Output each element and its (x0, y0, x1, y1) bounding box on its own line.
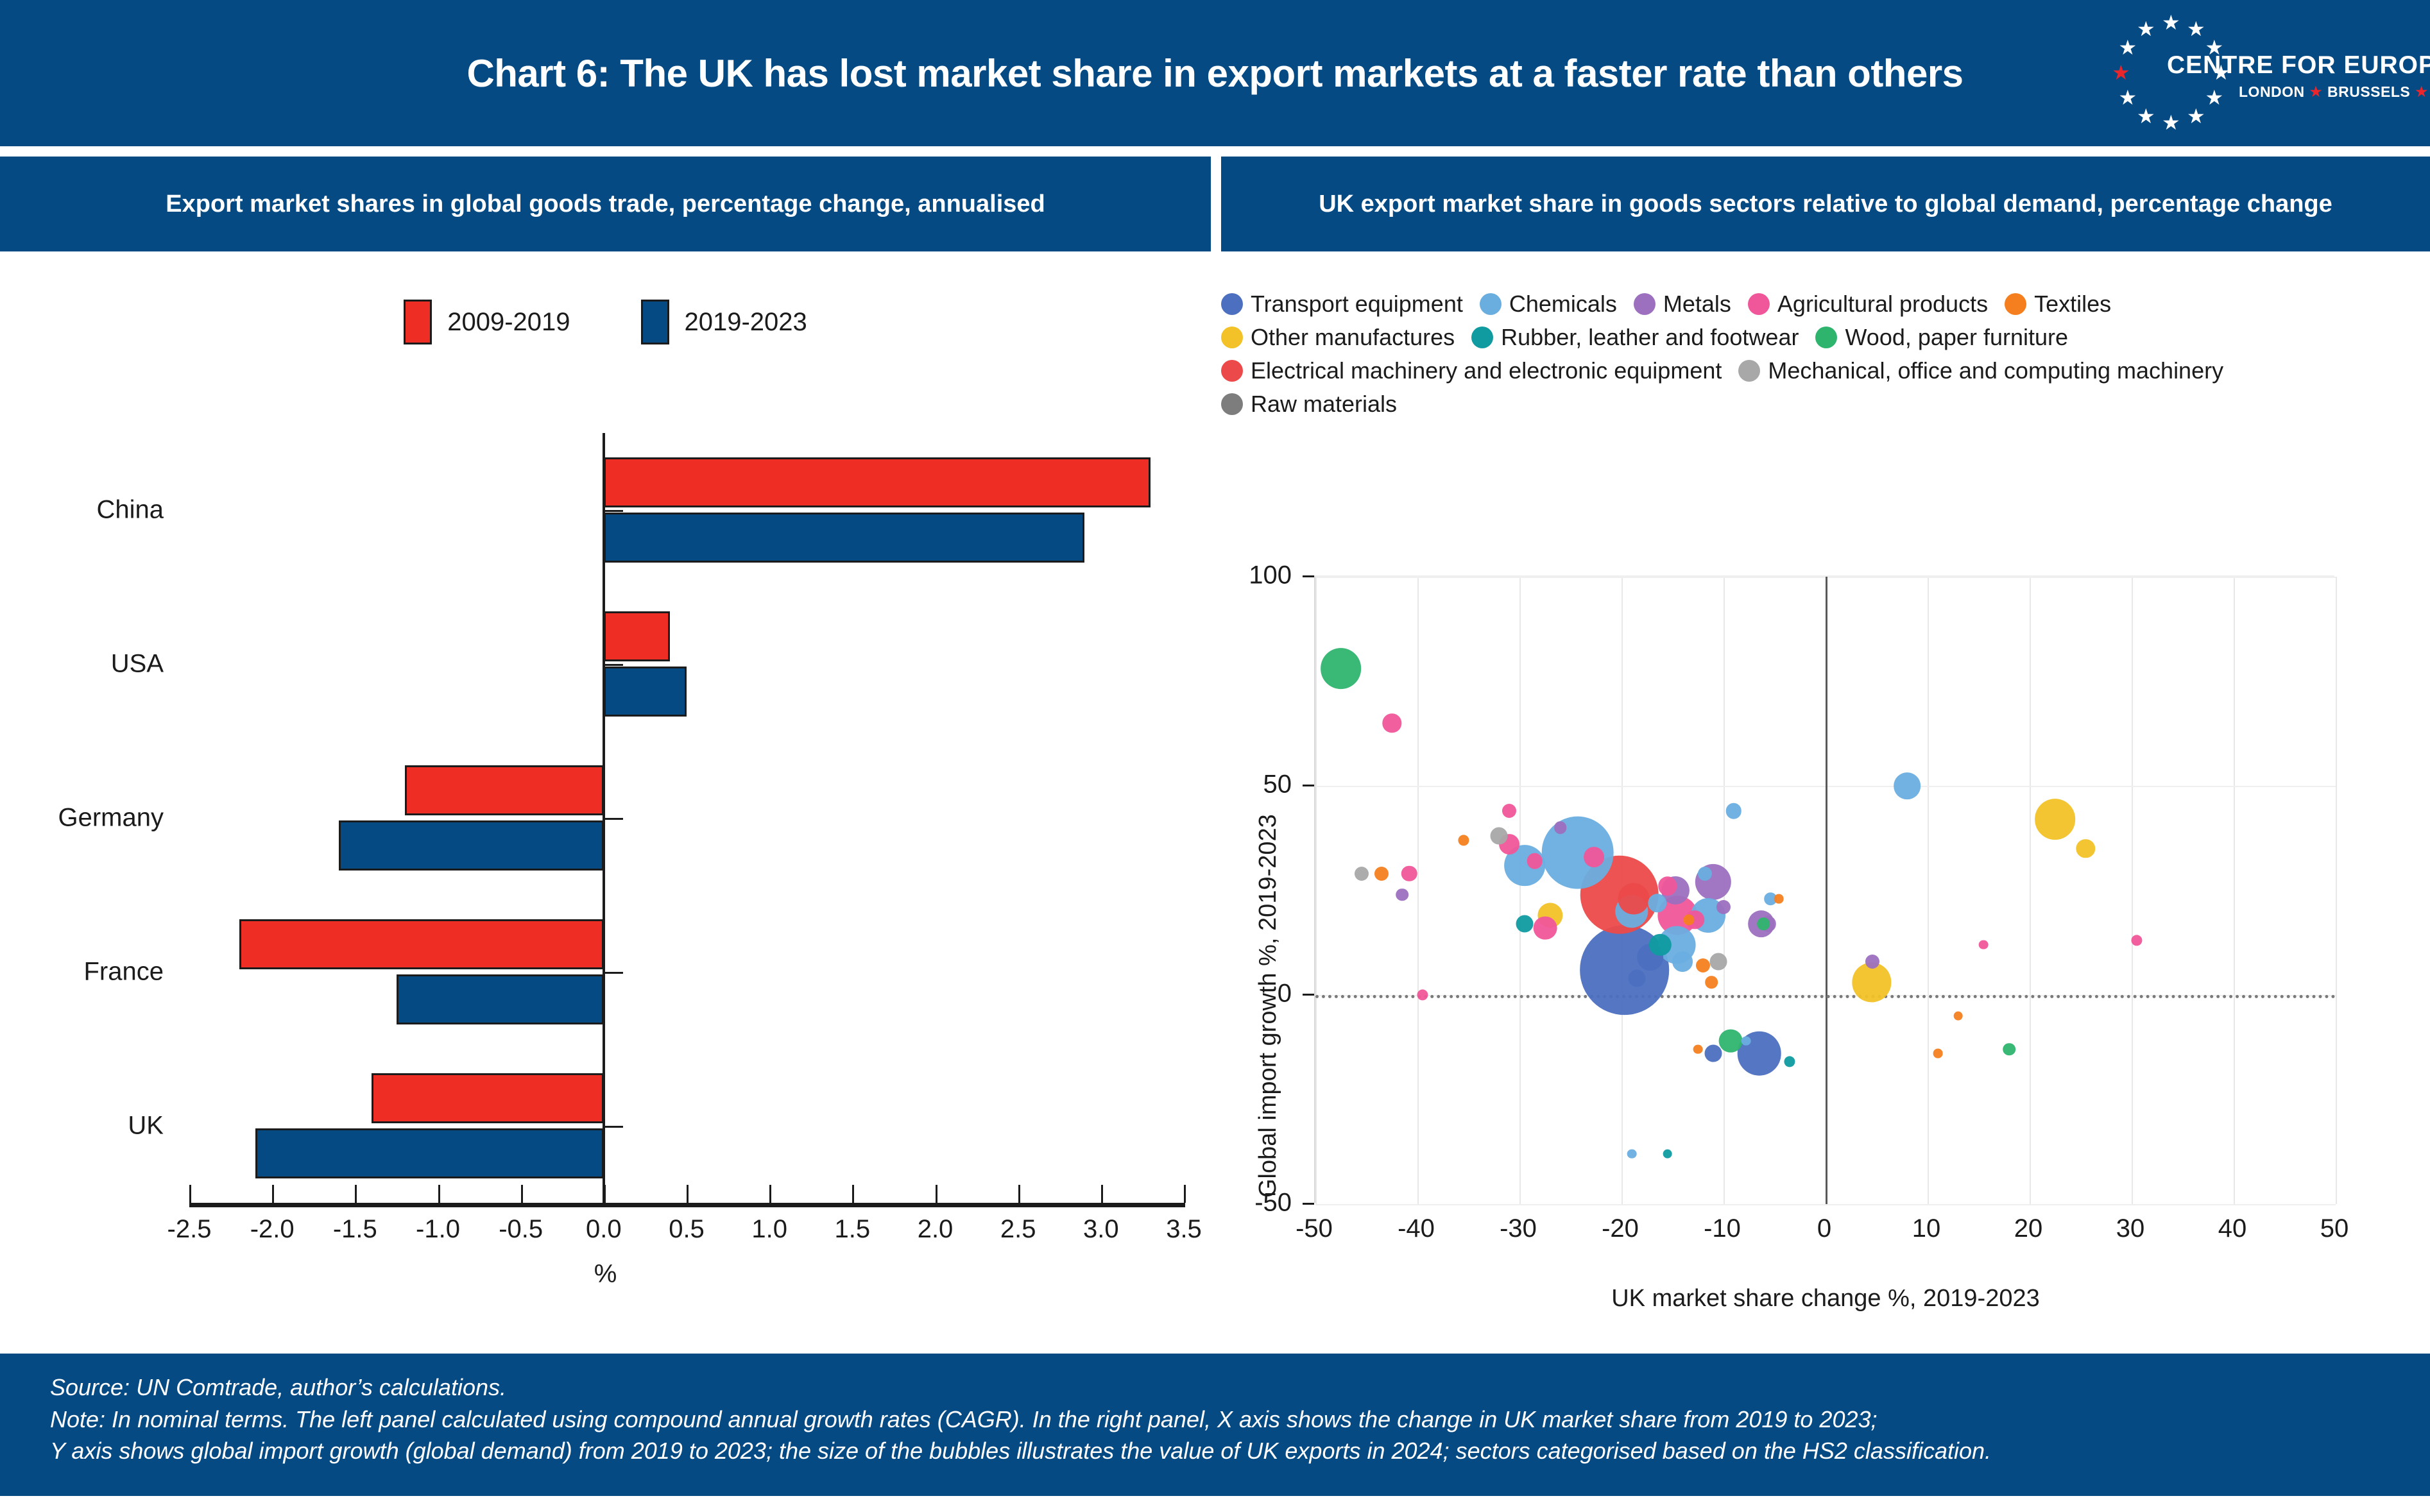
legend-dot-icon (1634, 293, 1656, 315)
legend-label: Metals (1663, 291, 1731, 317)
cer-logo: ★★★★★★★★★★★★ CENTRE FOR EUROPEAN REFORM … (2103, 14, 2404, 131)
legend-label: Other manufactures (1251, 325, 1455, 350)
bubble-point (1705, 976, 1718, 989)
bubble-point (1716, 900, 1731, 914)
bubble-x-tick-label: 40 (2218, 1214, 2247, 1243)
footer-strip (0, 1496, 2430, 1512)
bar-chart-panel: 2009-20192019-2023 -2.5-2.0-1.5-1.0-0.50… (0, 251, 1211, 1342)
bar-x-tick-label: 2.0 (918, 1215, 954, 1244)
bubble-y-tick-label: 100 (1221, 561, 1292, 590)
bubble-point (2131, 935, 2142, 946)
bar-usa-2009-2019 (604, 611, 670, 661)
bubble-gridline-v (2234, 577, 2235, 1204)
bubble-legend-item-4[interactable]: Textiles (2005, 291, 2111, 317)
bubble-point (1979, 940, 1989, 949)
bubble-legend-row-1: Other manufacturesRubber, leather and fo… (1221, 325, 2430, 350)
bubble-legend-row-2: Electrical machinery and electronic equi… (1221, 358, 2430, 384)
legend-swatch (641, 300, 669, 344)
bubble-point (2035, 799, 2076, 840)
bubble-point (1741, 1036, 1751, 1046)
bubble-point (2003, 1043, 2015, 1056)
legend-dot-icon (2005, 293, 2026, 315)
footer-note-line-2: Y axis shows global import growth (globa… (50, 1435, 2380, 1467)
legend-label: Transport equipment (1251, 291, 1463, 317)
bubble-point (2076, 839, 2095, 858)
bar-france-2009-2019 (239, 919, 604, 969)
bubble-point (1502, 804, 1516, 818)
bubble-point (1628, 969, 1645, 987)
star-icon: ★ (2187, 106, 2205, 126)
bubble-legend-item-1[interactable]: Chemicals (1480, 291, 1617, 317)
bar-x-axis-line (189, 1203, 1185, 1207)
bar-uk-2009-2019 (372, 1073, 604, 1123)
bar-chart-legend: 2009-20192019-2023 (0, 300, 1211, 344)
logo-city-london: LONDON (2239, 83, 2305, 101)
bubble-point (1705, 1045, 1722, 1062)
bar-x-tick (604, 1185, 606, 1203)
bubble-point (1852, 963, 1891, 1002)
bubble-y-zero-line (1315, 995, 2336, 998)
bar-china-2009-2019 (604, 457, 1151, 507)
bar-x-tick (521, 1185, 523, 1203)
star-icon: ★ (2112, 62, 2130, 83)
star-icon: ★ (2137, 19, 2155, 39)
bar-category-label-uk: UK (0, 1112, 164, 1141)
star-icon: ★ (2118, 37, 2137, 58)
header-bar: Chart 6: The UK has lost market share in… (0, 0, 2430, 146)
bubble-point (1719, 1029, 1743, 1053)
bubble-point (1401, 866, 1417, 882)
bubble-x-zero-line (1826, 577, 1827, 1204)
legend-swatch (404, 300, 432, 344)
bar-x-tick-label: -1.5 (333, 1215, 377, 1244)
bubble-point (1533, 916, 1557, 940)
bar-x-tick (272, 1185, 274, 1203)
bubble-gridline-v (2336, 577, 2337, 1204)
bar-x-tick (189, 1185, 191, 1203)
bubble-gridline-v (2132, 577, 2133, 1204)
bar-category-tick (604, 664, 623, 666)
bubble-y-tick (1303, 575, 1314, 577)
bubble-point (1757, 917, 1770, 930)
bubble-point (1374, 867, 1389, 881)
legend-dot-icon (1471, 327, 1493, 348)
bar-germany-2009-2019 (405, 765, 604, 815)
logo-city-brussels: BRUSSELS (2327, 83, 2410, 101)
bar-legend-item-0[interactable]: 2009-2019 (404, 300, 570, 344)
bubble-x-axis-title: UK market share change %, 2019-2023 (1221, 1285, 2430, 1312)
star-icon: ★ (2137, 106, 2155, 126)
bar-france-2019-2023 (397, 974, 604, 1024)
bubble-point (1355, 867, 1369, 881)
star-icon: ★ (2205, 87, 2224, 108)
legend-label: Chemicals (1509, 291, 1617, 317)
star-icon: ★ (2118, 87, 2137, 108)
bar-x-tick (936, 1185, 937, 1203)
bar-x-tick (687, 1185, 689, 1203)
legend-dot-icon (1748, 293, 1770, 315)
bubble-x-tick-label: -40 (1398, 1214, 1435, 1243)
legend-dot-icon (1815, 327, 1837, 348)
legend-label: 2019-2023 (685, 308, 807, 337)
bubble-point (1321, 649, 1362, 690)
bar-chart-plot-area (189, 433, 1184, 1203)
legend-dot-icon (1221, 393, 1243, 415)
bar-uk-2019-2023 (255, 1128, 604, 1178)
bubble-point (1554, 821, 1567, 834)
bubble-point (1953, 1011, 1963, 1021)
bubble-y-tick-label: 50 (1221, 770, 1292, 799)
legend-label: Agricultural products (1777, 291, 1988, 317)
bar-germany-2019-2023 (339, 820, 604, 871)
bubble-point (1774, 894, 1784, 904)
bar-category-label-france: France (0, 958, 164, 987)
legend-dot-icon (1221, 360, 1243, 382)
bubble-x-tick-label: -50 (1296, 1214, 1333, 1243)
footer-note-line-1: Note: In nominal terms. The left panel c… (50, 1404, 2380, 1436)
bubble-point (1417, 989, 1428, 1000)
bubble-point (1710, 953, 1727, 970)
bubble-x-tick-label: 50 (2320, 1214, 2349, 1243)
star-icon: ★ (2415, 84, 2427, 100)
legend-label: Electrical machinery and electronic equi… (1251, 358, 1722, 384)
legend-label: 2009-2019 (447, 308, 570, 337)
bubble-y-tick (1303, 994, 1314, 996)
bar-x-tick-label: 3.0 (1083, 1215, 1119, 1244)
legend-label: Wood, paper furniture (1845, 325, 2068, 350)
bubble-point (1627, 1149, 1637, 1159)
bar-category-tick (604, 972, 623, 974)
bubble-x-tick-label: -10 (1704, 1214, 1741, 1243)
bar-category-label-china: China (0, 496, 164, 525)
bar-category-tick (604, 510, 623, 512)
bubble-point (1516, 915, 1533, 933)
bubble-point (1584, 847, 1604, 867)
bar-china-2019-2023 (604, 513, 1084, 563)
bar-x-axis-title: % (0, 1260, 1211, 1289)
bar-x-tick-label: 1.0 (751, 1215, 787, 1244)
bubble-chart-panel: Transport equipmentChemicalsMetalsAgricu… (1221, 251, 2430, 1342)
bar-x-tick-label: 2.5 (1000, 1215, 1036, 1244)
bar-x-tick-label: -2.0 (250, 1215, 295, 1244)
legend-dot-icon (1221, 293, 1243, 315)
bubble-legend-item-0[interactable]: Transport equipment (1221, 291, 1463, 317)
bubble-x-tick-label: 30 (2116, 1214, 2145, 1243)
legend-dot-icon (1738, 360, 1760, 382)
bar-x-tick-label: -1.0 (416, 1215, 460, 1244)
bubble-point (1458, 835, 1469, 845)
bubble-gridline-v (1315, 577, 1317, 1204)
star-icon: ★ (2187, 19, 2205, 39)
bar-category-tick (604, 1126, 623, 1128)
bubble-point (1698, 867, 1712, 881)
bar-x-tick (852, 1185, 854, 1203)
bubble-x-tick-label: 10 (1912, 1214, 1941, 1243)
bubble-gridline-v (1417, 577, 1419, 1204)
legend-label: Textiles (2034, 291, 2111, 317)
star-icon: ★ (2162, 112, 2180, 133)
bar-category-label-germany: Germany (0, 804, 164, 833)
bubble-gridline-v (1519, 577, 1521, 1204)
bubble-legend-item-3[interactable]: Agricultural products (1748, 291, 1988, 317)
logo-name: CENTRE FOR EUROPEAN REFORM (2167, 51, 2430, 80)
bubble-legend-row-3: Raw materials (1221, 391, 2430, 417)
bar-x-tick (1018, 1185, 1020, 1203)
bubble-chart-plot-area (1314, 575, 2334, 1203)
bubble-chart-legend: Transport equipmentChemicalsMetalsAgricu… (1221, 291, 2430, 425)
bubble-legend-item-9[interactable]: Mechanical, office and computing machine… (1738, 358, 2223, 384)
bubble-legend-item-2[interactable]: Metals (1634, 291, 1731, 317)
chart-page: Chart 6: The UK has lost market share in… (0, 0, 2430, 1512)
bar-category-tick (604, 818, 623, 820)
bubble-x-tick-label: 0 (1817, 1214, 1831, 1243)
bar-x-tick-label: 1.5 (835, 1215, 871, 1244)
footer-source-line: Source: UN Comtrade, author’s calculatio… (50, 1372, 2380, 1404)
bubble-point (1396, 888, 1408, 901)
bar-usa-2019-2023 (604, 667, 687, 717)
footer-notes: Source: UN Comtrade, author’s calculatio… (0, 1354, 2430, 1496)
page-title: Chart 6: The UK has lost market share in… (0, 0, 2430, 146)
bubble-point (1527, 853, 1543, 869)
bubble-x-tick-label: -30 (1500, 1214, 1537, 1243)
bubble-point (1933, 1049, 1943, 1058)
bubble-legend-item-10[interactable]: Raw materials (1221, 391, 1397, 417)
bubble-x-tick-label: 20 (2014, 1214, 2043, 1243)
bubble-point (1726, 803, 1742, 819)
bubble-point (1491, 828, 1508, 845)
bubble-y-tick (1303, 785, 1314, 786)
bubble-point (1865, 955, 1879, 969)
bubble-legend-item-6[interactable]: Rubber, leather and footwear (1471, 325, 1799, 350)
legend-dot-icon (1480, 293, 1502, 315)
right-panel-subtitle: UK export market share in goods sectors … (1221, 157, 2430, 251)
bubble-gridline-h (1315, 1204, 2336, 1205)
bubble-y-tick (1303, 1203, 1314, 1205)
bubble-legend-item-5[interactable]: Other manufactures (1221, 325, 1455, 350)
bar-x-tick-label: 0.0 (586, 1215, 622, 1244)
bubble-gridline-v (2030, 577, 2031, 1204)
bubble-point (1693, 1044, 1703, 1054)
legend-label: Mechanical, office and computing machine… (1768, 358, 2223, 384)
bubble-y-axis-title: Global import growth %, 2019-2023 (1254, 814, 1282, 1198)
bar-x-tick-label: 0.5 (669, 1215, 705, 1244)
bubble-point (1672, 951, 1693, 972)
bubble-point (1383, 713, 1401, 732)
bubble-point (1784, 1057, 1795, 1067)
bubble-point (1618, 883, 1650, 915)
bubble-legend-row-0: Transport equipmentChemicalsMetalsAgricu… (1221, 291, 2430, 317)
bubble-point (1696, 958, 1710, 973)
star-icon: ★ (2162, 12, 2180, 33)
logo-cities: LONDON ★ BRUSSELS ★ BERLIN (2239, 83, 2430, 101)
star-icon: ★ (2310, 84, 2322, 100)
bubble-legend-item-8[interactable]: Electrical machinery and electronic equi… (1221, 358, 1722, 384)
bar-x-tick (1184, 1185, 1186, 1203)
legend-dot-icon (1221, 327, 1243, 348)
left-panel-subtitle: Export market shares in global goods tra… (0, 157, 1211, 251)
bar-x-tick (438, 1185, 440, 1203)
bar-x-tick-label: 3.5 (1166, 1215, 1202, 1244)
bar-legend-item-1[interactable]: 2019-2023 (641, 300, 807, 344)
bar-category-label-usa: USA (0, 650, 164, 679)
bar-x-tick (1101, 1185, 1103, 1203)
bar-x-tick (769, 1185, 771, 1203)
bubble-point (1663, 1149, 1672, 1159)
bar-x-tick-label: -0.5 (499, 1215, 543, 1244)
bar-x-tick-label: -2.5 (167, 1215, 212, 1244)
bubble-legend-item-7[interactable]: Wood, paper furniture (1815, 325, 2068, 350)
legend-label: Raw materials (1251, 391, 1397, 417)
bar-x-tick (355, 1185, 357, 1203)
bubble-x-tick-label: -20 (1602, 1214, 1639, 1243)
bubble-point (1894, 772, 1921, 799)
legend-label: Rubber, leather and footwear (1501, 325, 1799, 350)
bubble-gridline-v (1928, 577, 1929, 1204)
